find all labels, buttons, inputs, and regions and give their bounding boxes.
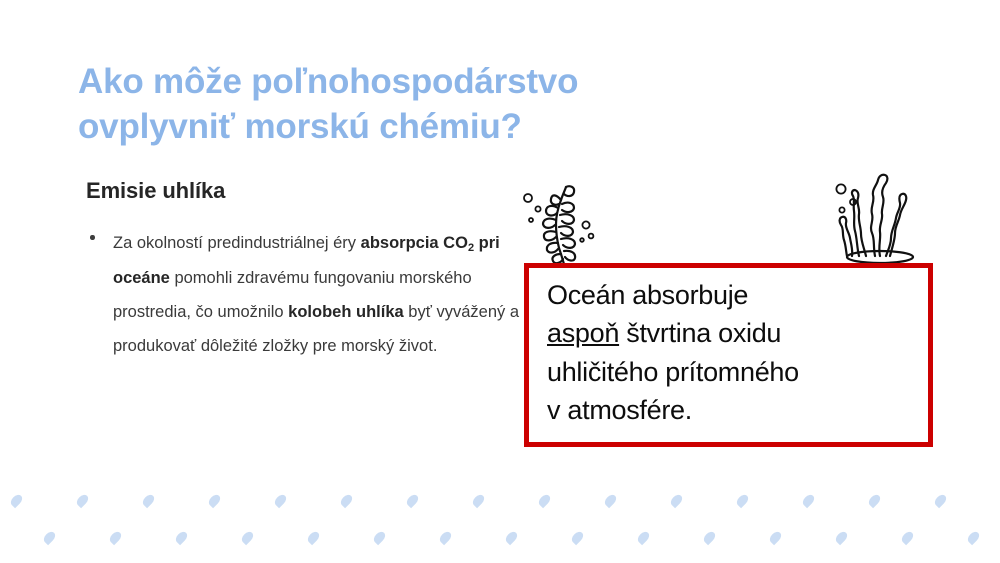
droplet-icon: [768, 530, 784, 546]
droplet-icon: [570, 530, 586, 546]
droplet-icon: [9, 493, 25, 509]
droplet-icon: [339, 493, 355, 509]
droplet-icon: [504, 530, 520, 546]
bullet-subscript: 2: [468, 242, 474, 254]
bullet-text: Za okolností predindustriálnej éry absor…: [113, 226, 526, 363]
droplet-icon: [174, 530, 190, 546]
droplet-icon: [933, 493, 949, 509]
callout-line-1: Oceán absorbuje: [547, 280, 748, 310]
droplet-icon: [867, 493, 883, 509]
droplet-icon: [603, 493, 619, 509]
page-title-line-2: ovplyvniť morskú chémiu?: [78, 105, 718, 150]
page-title: Ako môže poľnohospodárstvo ovplyvniť mor…: [78, 60, 718, 150]
droplet-icon: [669, 493, 685, 509]
droplet-icon: [537, 493, 553, 509]
droplet-icon: [306, 530, 322, 546]
page-title-line-1: Ako môže poľnohospodárstvo: [78, 60, 718, 105]
seagrass-cluster-icon: [828, 168, 932, 265]
callout-underlined-word: aspoň: [547, 318, 619, 348]
slide-canvas: Ako môže poľnohospodárstvo ovplyvniť mor…: [0, 0, 1000, 563]
bullet-emphasis-2: kolobeh uhlíka: [288, 303, 404, 321]
footer-decoration-band: ProBleu: [0, 470, 1000, 563]
droplet-icon: [141, 493, 157, 509]
droplet-icon: [438, 530, 454, 546]
droplet-icon: [372, 530, 388, 546]
list-item: Za okolností predindustriálnej éry absor…: [86, 226, 526, 363]
droplet-icon: [273, 493, 289, 509]
content-column-left: Emisie uhlíka Za okolností predindustriá…: [86, 178, 526, 364]
droplet-icon: [900, 530, 916, 546]
droplet-icon: [966, 530, 982, 546]
droplet-icon: [834, 530, 850, 546]
bullet-dot-icon: [90, 235, 95, 240]
droplet-icon: [702, 530, 718, 546]
callout-line-2-rest: štvrtina oxidu: [619, 318, 781, 348]
droplet-icon: [75, 493, 91, 509]
section-heading: Emisie uhlíka: [86, 178, 526, 204]
callout-line-4: v atmosfére.: [547, 395, 692, 425]
kelp-frond-icon: [518, 182, 598, 270]
droplet-icon: [636, 530, 652, 546]
callout-line-3: uhličitého prítomného: [547, 357, 799, 387]
bullet-bold-pre: absorpcia CO: [361, 234, 468, 252]
droplet-icon: [240, 530, 256, 546]
droplet-icon: [735, 493, 751, 509]
callout-box: Oceán absorbujeaspoň štvrtina oxiduuhlič…: [524, 263, 933, 447]
droplet-icon: [207, 493, 223, 509]
droplet-icon: [405, 493, 421, 509]
callout-text: Oceán absorbujeaspoň štvrtina oxiduuhlič…: [547, 276, 927, 429]
droplet-icon: [471, 493, 487, 509]
droplet-icon: [108, 530, 124, 546]
bullet-text-part-1: Za okolností predindustriálnej éry: [113, 234, 361, 252]
droplet-icon: [42, 530, 58, 546]
droplet-icon: [801, 493, 817, 509]
